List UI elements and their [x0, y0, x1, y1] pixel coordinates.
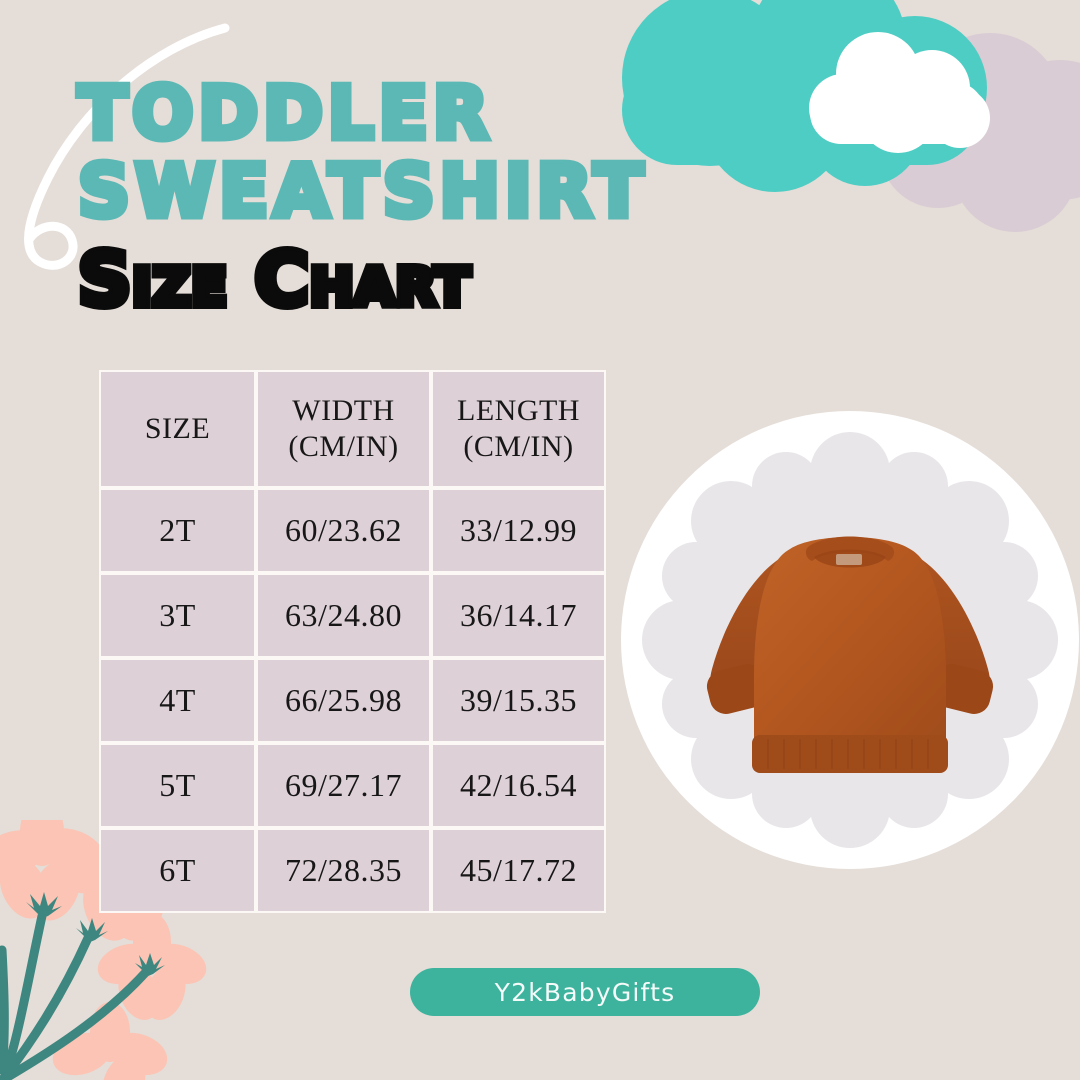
column-header-size: SIZE	[99, 370, 256, 488]
cell-width: 63/24.80	[256, 573, 431, 658]
cell-length: 39/15.35	[431, 658, 606, 743]
cell-length: 42/16.54	[431, 743, 606, 828]
table-row: 2T 60/23.62 33/12.99	[99, 488, 606, 573]
cell-width: 60/23.62	[256, 488, 431, 573]
cell-size: 6T	[99, 828, 256, 913]
table-row: 6T 72/28.35 45/17.72	[99, 828, 606, 913]
cell-size: 3T	[99, 573, 256, 658]
brand-badge: Y2kBabyGifts	[410, 968, 760, 1016]
page-title: Toddler Sweatshirt Size Chart	[78, 74, 648, 324]
cell-size: 5T	[99, 743, 256, 828]
table-row: 4T 66/25.98 39/15.35	[99, 658, 606, 743]
cell-length: 36/14.17	[431, 573, 606, 658]
cell-size: 2T	[99, 488, 256, 573]
title-line-2: Sweatshirt	[78, 152, 648, 230]
column-header-length: LENGTH (CM/IN)	[431, 370, 606, 488]
product-image-frame	[620, 410, 1080, 870]
page-subtitle: Size Chart	[78, 236, 648, 324]
column-header-width-unit: (CM/IN)	[258, 429, 429, 465]
brand-name: Y2kBabyGifts	[495, 978, 676, 1007]
cell-size: 4T	[99, 658, 256, 743]
sweatshirt-image	[690, 499, 1010, 799]
size-chart-table: SIZE WIDTH (CM/IN) LENGTH (CM/IN) 2T 60/…	[99, 370, 606, 913]
column-header-width: WIDTH (CM/IN)	[256, 370, 431, 488]
column-header-size-label: SIZE	[145, 412, 210, 445]
column-header-length-label: LENGTH	[457, 394, 580, 427]
table-row: 3T 63/24.80 36/14.17	[99, 573, 606, 658]
table-header-row: SIZE WIDTH (CM/IN) LENGTH (CM/IN)	[99, 370, 606, 488]
column-header-length-unit: (CM/IN)	[433, 429, 604, 465]
cell-length: 33/12.99	[431, 488, 606, 573]
cell-width: 69/27.17	[256, 743, 431, 828]
cell-width: 66/25.98	[256, 658, 431, 743]
table-row: 5T 69/27.17 42/16.54	[99, 743, 606, 828]
cell-width: 72/28.35	[256, 828, 431, 913]
title-line-1: Toddler	[78, 74, 648, 152]
cell-length: 45/17.72	[431, 828, 606, 913]
column-header-width-label: WIDTH	[292, 394, 394, 427]
